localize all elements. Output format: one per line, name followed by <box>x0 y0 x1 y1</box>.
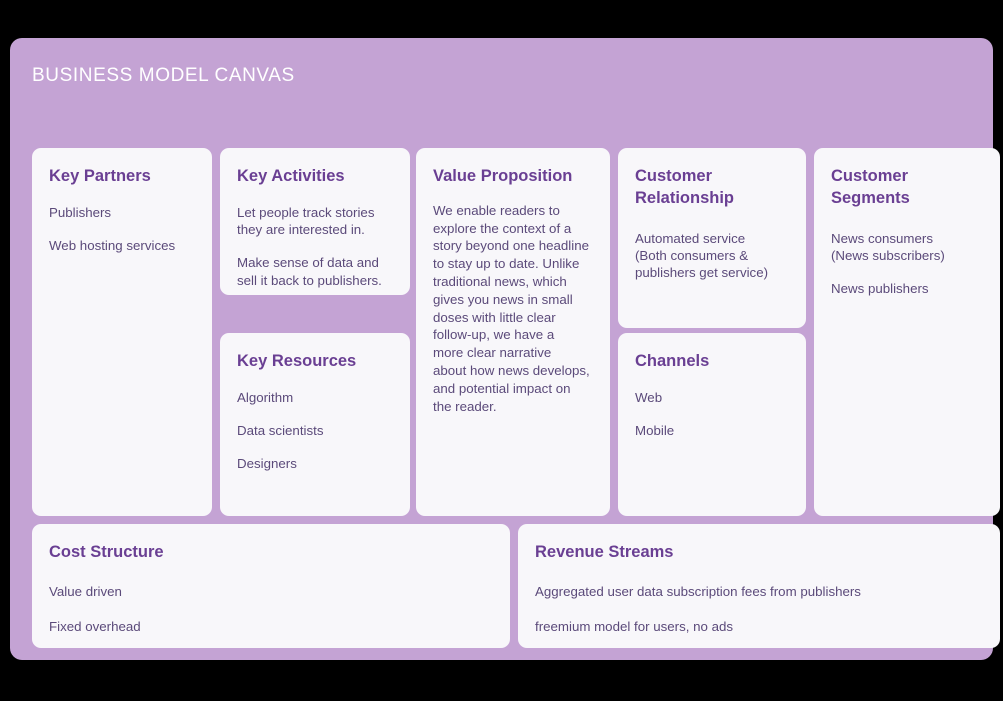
block-title: Channels <box>635 351 789 373</box>
block-key-partners[interactable]: Key Partners Publishers Web hosting serv… <box>32 148 212 516</box>
block-body: News consumers (News subscribers) News p… <box>831 230 983 298</box>
block-entry: Value driven <box>49 583 493 600</box>
block-body: We enable readers to explore the context… <box>433 202 593 416</box>
block-entry: News publishers <box>831 280 983 297</box>
block-entry: Aggregated user data subscription fees f… <box>535 583 983 600</box>
block-key-activities[interactable]: Key Activities Let people track stories … <box>220 148 410 295</box>
block-entry: Algorithm <box>237 389 393 406</box>
block-entry: Designers <box>237 455 393 472</box>
block-entry: Fixed overhead <box>49 618 493 635</box>
block-title: Key Resources <box>237 351 393 373</box>
block-entry: Mobile <box>635 422 789 439</box>
block-entry: Web <box>635 389 789 406</box>
block-revenue-streams[interactable]: Revenue Streams Aggregated user data sub… <box>518 524 1000 648</box>
block-key-resources[interactable]: Key Resources Algorithm Data scientists … <box>220 333 410 516</box>
block-entry: Data scientists <box>237 422 393 439</box>
block-entry: News consumers (News subscribers) <box>831 230 983 265</box>
block-body: Let people track stories they are intere… <box>237 204 393 289</box>
block-entry: Web hosting services <box>49 237 195 254</box>
block-title: Customer Segments <box>831 166 983 210</box>
block-body: Publishers Web hosting services <box>49 204 195 255</box>
canvas-title: BUSINESS MODEL CANVAS <box>32 65 295 87</box>
block-channels[interactable]: Channels Web Mobile <box>618 333 806 516</box>
block-body: Value driven Fixed overhead <box>49 583 493 636</box>
block-entry: We enable readers to explore the context… <box>433 202 593 416</box>
block-value-proposition[interactable]: Value Proposition We enable readers to e… <box>416 148 610 516</box>
block-entry: Automated service (Both consumers & publ… <box>635 230 789 282</box>
block-title: Key Activities <box>237 166 393 188</box>
block-entry: Let people track stories they are intere… <box>237 204 393 239</box>
block-title: Cost Structure <box>49 542 493 564</box>
block-body: Algorithm Data scientists Designers <box>237 389 393 473</box>
block-title: Revenue Streams <box>535 542 983 564</box>
block-entry: freemium model for users, no ads <box>535 618 983 635</box>
block-title: Key Partners <box>49 166 195 188</box>
block-body: Aggregated user data subscription fees f… <box>535 583 983 636</box>
block-body: Web Mobile <box>635 389 789 440</box>
block-entry: Make sense of data and sell it back to p… <box>237 254 393 289</box>
block-title: Customer Relationship <box>635 166 789 210</box>
block-customer-relationship[interactable]: Customer Relationship Automated service … <box>618 148 806 328</box>
business-model-canvas: BUSINESS MODEL CANVAS Key Partners Publi… <box>10 38 993 660</box>
block-title: Value Proposition <box>433 166 593 188</box>
block-cost-structure[interactable]: Cost Structure Value driven Fixed overhe… <box>32 524 510 648</box>
block-customer-segments[interactable]: Customer Segments News consumers (News s… <box>814 148 1000 516</box>
block-body: Automated service (Both consumers & publ… <box>635 230 789 282</box>
canvas-grid: Key Partners Publishers Web hosting serv… <box>22 110 981 648</box>
block-entry: Publishers <box>49 204 195 221</box>
